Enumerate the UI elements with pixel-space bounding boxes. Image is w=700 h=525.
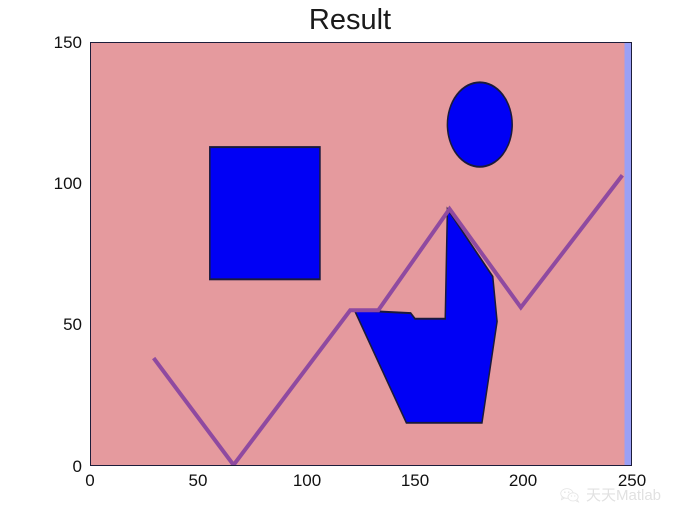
object-ellipse [447, 82, 512, 166]
y-tick-label-50: 50 [34, 316, 82, 333]
x-tick-label-100: 100 [277, 472, 337, 489]
background-field [91, 43, 631, 465]
wechat-icon [560, 487, 580, 503]
x-tick-label-50: 50 [168, 472, 228, 489]
result-image-canvas [91, 43, 631, 465]
x-tick-label-250: 250 [602, 472, 662, 489]
object-rectangle [210, 147, 320, 279]
y-tick-label-150: 150 [34, 34, 82, 51]
y-tick-label-100: 100 [34, 175, 82, 192]
right-edge-strip [625, 43, 631, 465]
x-tick-label-150: 150 [385, 472, 445, 489]
page-title: Result [0, 4, 700, 37]
plot-axes [90, 42, 632, 466]
matlab-figure: Result 150 100 50 0 0 50 100 150 200 250… [0, 0, 700, 525]
x-tick-label-0: 0 [60, 472, 120, 489]
x-tick-label-200: 200 [493, 472, 553, 489]
